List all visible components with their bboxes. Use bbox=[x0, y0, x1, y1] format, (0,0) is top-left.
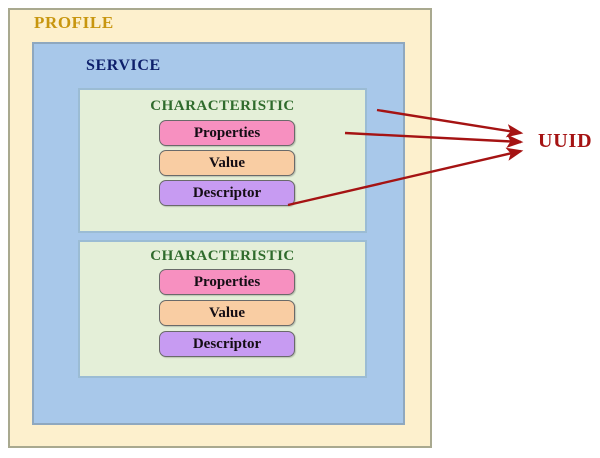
characteristic-label-2: CHARACTERISTIC bbox=[80, 248, 365, 265]
uuid-label: UUID bbox=[538, 130, 592, 153]
characteristic-2-descriptor-pill: Descriptor bbox=[159, 331, 295, 357]
diagram-canvas: PROFILE SERVICE CHARACTERISTIC Propertie… bbox=[0, 0, 600, 458]
characteristic-2-value-pill: Value bbox=[159, 300, 295, 326]
profile-label: PROFILE bbox=[34, 13, 114, 33]
characteristic-1-properties-pill: Properties bbox=[159, 120, 295, 146]
characteristic-container-2: CHARACTERISTIC Properties Value Descript… bbox=[78, 240, 367, 378]
characteristic-container-1: CHARACTERISTIC Properties Value Descript… bbox=[78, 88, 367, 233]
characteristic-label-1: CHARACTERISTIC bbox=[80, 98, 365, 115]
characteristic-1-descriptor-pill: Descriptor bbox=[159, 180, 295, 206]
characteristic-2-properties-pill: Properties bbox=[159, 269, 295, 295]
service-label: SERVICE bbox=[86, 57, 161, 75]
characteristic-1-value-pill: Value bbox=[159, 150, 295, 176]
